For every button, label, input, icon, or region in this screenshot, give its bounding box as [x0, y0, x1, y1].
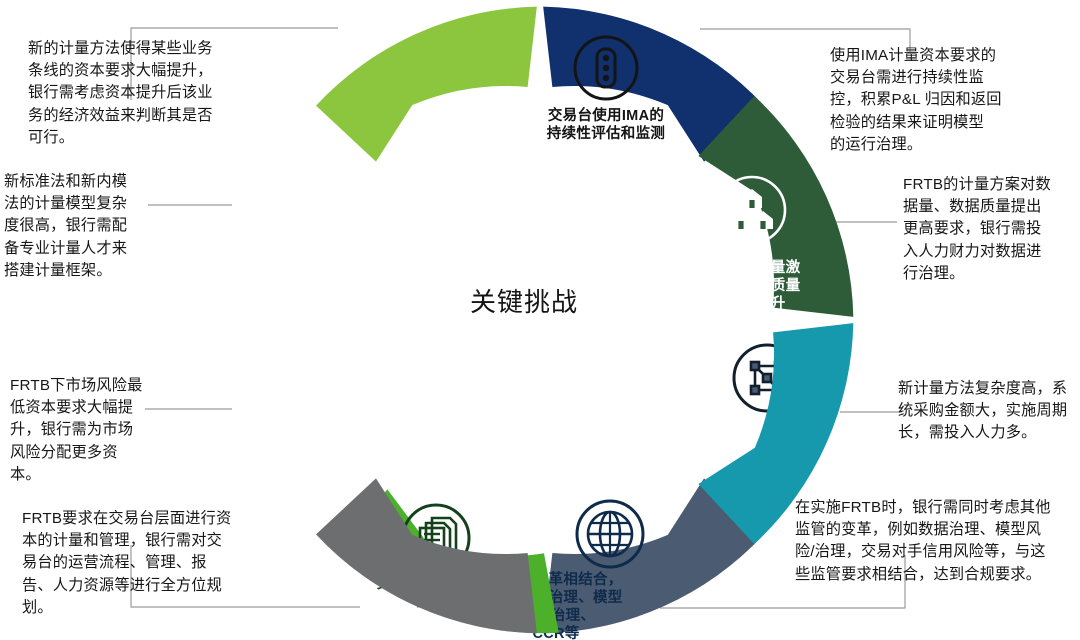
- icon-wrap-abacus: [244, 161, 310, 227]
- page-title: 关键挑战: [470, 282, 578, 319]
- segment-label-market-risk: 市场风险资本的大幅提升: [231, 424, 320, 460]
- segment-label-business-line: 业务条线评估: [378, 158, 467, 176]
- callout-data-quality: FRTB的计量方案对数 据量、数据质量提出 更高要求，银行需投 入人力财力对数据…: [903, 174, 1079, 285]
- segment-market-risk-capital[interactable]: 市场风险资本的大幅提升: [231, 346, 572, 640]
- icon-wrap-globe: [577, 501, 643, 567]
- callout-desk-management: FRTB要求在交易台层面进行资 本的计量和管理，银行需对交 易台的运营流程、管理…: [22, 508, 264, 619]
- callout-business-line: 新的计量方法使得某些业务 条线的资本要求大幅提升， 银行需考虑资本提升后该业 务…: [28, 38, 254, 149]
- icon-wrap-bar-up-arrow: [236, 346, 302, 412]
- callout-other-reforms: 在实施FRTB时，银行需同时考虑其他 监管的变革，例如数据治理、模型风 险/治理…: [795, 497, 1080, 586]
- callout-complex-models: 新标准法和新内模 法的计量模型复杂 度很高，银行需配 备专业计量人才来 搭建计量…: [4, 171, 164, 282]
- callout-market-risk: FRTB下市场风险最 低资本要求大幅提 升，银行需为市场 风险分配更多资 本。: [10, 375, 170, 486]
- infographic-canvas: 业务条线评估 交易台使用IMA的持续性评估和监测: [0, 0, 1080, 640]
- segment-label-desk-ima: 交易台使用IMA的持续性评估和监测: [547, 106, 665, 142]
- callout-system-upgrade: 新计量方法复杂度高，系 统采购金额大，实施周期 长，需投入人力多。: [898, 378, 1078, 445]
- segment-label-complex-models: 复杂的计量模型: [232, 238, 322, 274]
- callout-ima-monitoring: 使用IMA计量资本要求的 交易台需进行持续性监 控，积累P&L 归因和返回 检验…: [830, 45, 1062, 156]
